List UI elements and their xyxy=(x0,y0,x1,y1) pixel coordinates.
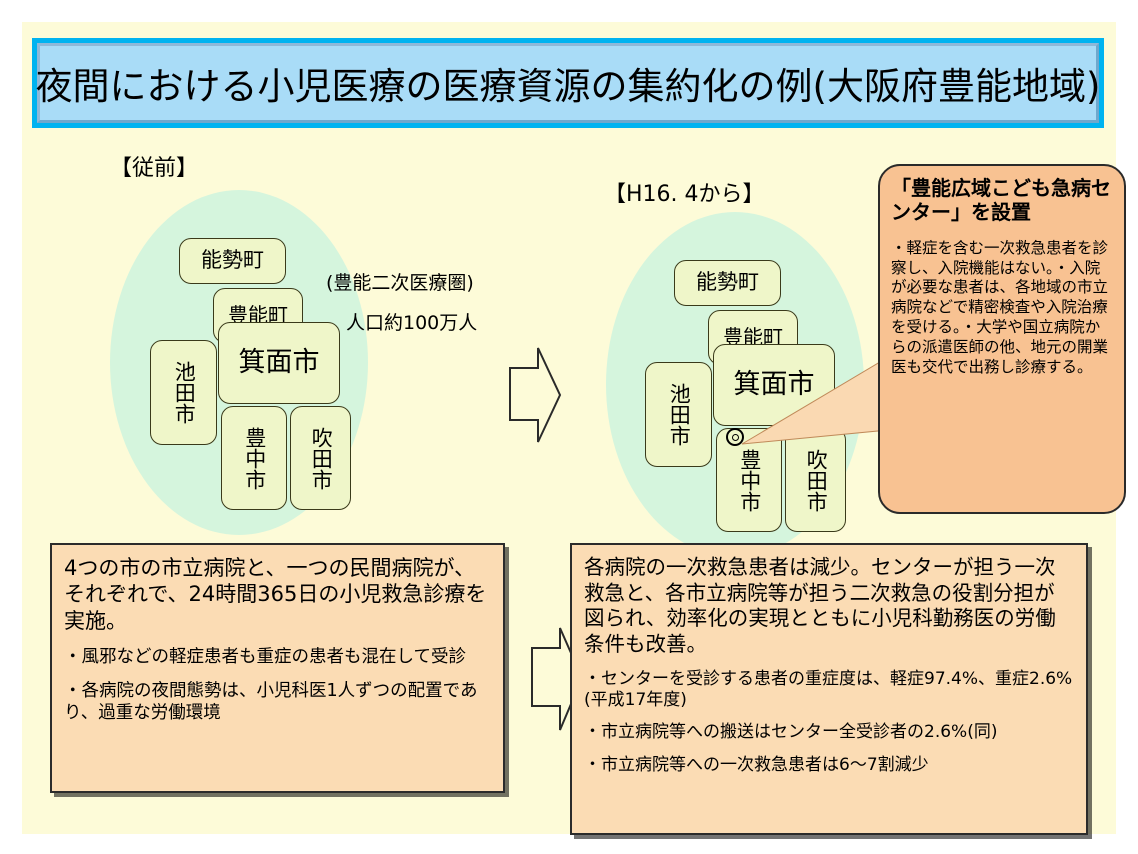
before-summary-lead: 4つの市の市立病院と、一つの民間病院が、それぞれで、24時間365日の小児救急診… xyxy=(64,555,491,634)
after-summary-bullet-1: ・センターを受診する患者の重症度は、軽症97.4%、重症2.6%(平成17年度) xyxy=(584,669,1074,712)
before-city-toyonaka: 豊中市 xyxy=(221,406,287,510)
before-summary-bullet-1: ・風邪などの軽症患者も重症の患者も混在して受診 xyxy=(64,646,491,668)
after-summary-bullet-2: ・市立病院等への搬送はセンター全受診者の2.6%(同) xyxy=(584,722,1074,743)
before-city-suita: 吹田市 xyxy=(290,406,351,510)
slide-panel: 夜間における小児医療の医療資源の集約化の例(大阪府豊能地域) 【従前】 能勢町 … xyxy=(22,22,1116,834)
after-summary-bullet-3: ・市立病院等への一次救急患者は6〜7割減少 xyxy=(584,755,1074,776)
after-summary-box: 各病院の一次救急患者は減少。センターが担う一次救急と、各市立病院等が担う二次救急… xyxy=(570,543,1088,835)
before-summary-bullet-2: ・各病院の夜間態勢は、小児科医1人ずつの配置であり、過重な労働環境 xyxy=(64,680,491,724)
after-phase-label: 【H16. 4から】 xyxy=(604,176,765,208)
after-summary-lead: 各病院の一次救急患者は減少。センターが担う一次救急と、各市立病院等が担う二次救急… xyxy=(584,555,1074,658)
callout-title: 「豊能広域こども急病センター」を設置 xyxy=(891,176,1115,225)
after-city-ikeda: 池田市 xyxy=(645,362,712,467)
top-transition-arrow xyxy=(480,340,570,450)
title-bar: 夜間における小児医療の医療資源の集約化の例(大阪府豊能地域) xyxy=(32,38,1104,128)
before-annotation-medical-zone: (豊能二次医療圏) xyxy=(326,268,474,295)
before-annotation-population: 人口約100万人 xyxy=(346,308,477,335)
title-bar-inner: 夜間における小児医療の医療資源の集約化の例(大阪府豊能地域) xyxy=(37,43,1099,123)
before-city-ikeda: 池田市 xyxy=(150,340,217,445)
callout-pointer xyxy=(740,352,890,452)
before-map-panel: 【従前】 能勢町 豊能町 池田市 箕面市 豊中市 吹田市 (豊能二次医療圏) 人… xyxy=(82,140,502,550)
page-title: 夜間における小児医療の医療資源の集約化の例(大阪府豊能地域) xyxy=(36,56,1101,110)
after-city-nose: 能勢町 xyxy=(674,260,781,306)
before-city-minoh: 箕面市 xyxy=(218,322,340,404)
before-phase-label: 【従前】 xyxy=(110,150,198,182)
before-city-nose: 能勢町 xyxy=(179,238,286,284)
before-summary-box: 4つの市の市立病院と、一つの民間病院が、それぞれで、24時間365日の小児救急診… xyxy=(50,543,505,793)
after-map-panel: 【H16. 4から】 能勢町 豊能町 池田市 箕面市 豊中市 吹田市 xyxy=(582,150,912,550)
callout-body: ・軽症を含む一次救急患者を診察し、入院機能はない。・入院が必要な患者は、各地域の… xyxy=(891,239,1115,378)
center-callout-box: 「豊能広域こども急病センター」を設置 ・軽症を含む一次救急患者を診察し、入院機能… xyxy=(878,164,1126,514)
